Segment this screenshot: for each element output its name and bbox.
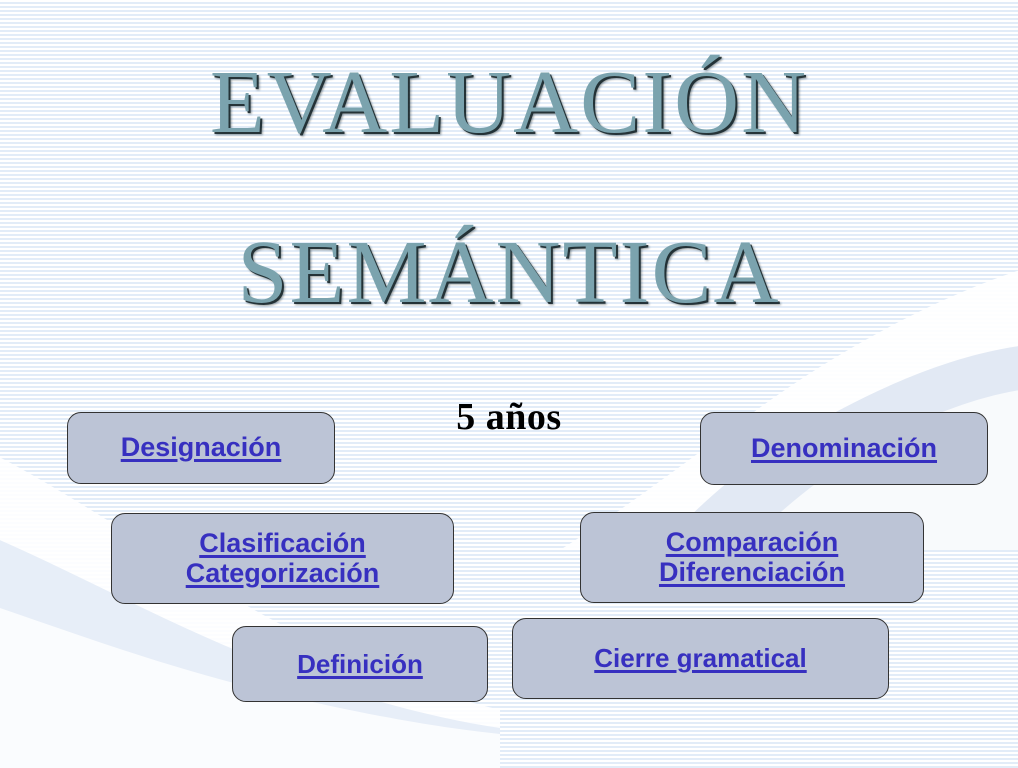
node-definicion-label: Definición — [297, 650, 423, 678]
slide-title-line-1: EVALUACIÓN — [0, 58, 1018, 148]
node-clasificacion-categorizacion[interactable]: Clasificación Categorización — [111, 513, 454, 604]
node-designacion[interactable]: Designación — [67, 412, 335, 484]
node-denominacion-label: Denominación — [751, 434, 937, 463]
node-comparacion-label-line-2: Diferenciación — [659, 558, 845, 587]
node-denominacion[interactable]: Denominación — [700, 412, 988, 485]
node-definicion[interactable]: Definición — [232, 626, 488, 702]
slide-canvas: EVALUACIÓN SEMÁNTICA 5 años Designación … — [0, 0, 1018, 768]
node-cierre-gramatical-label: Cierre gramatical — [594, 644, 806, 672]
node-designacion-label: Designación — [121, 433, 282, 462]
node-comparacion-label-line-1: Comparación — [666, 528, 839, 557]
slide-title-line-2: SEMÁNTICA — [0, 228, 1018, 318]
node-clasificacion-label-line-1: Clasificación — [199, 529, 366, 558]
node-cierre-gramatical[interactable]: Cierre gramatical — [512, 618, 889, 699]
node-comparacion-diferenciacion[interactable]: Comparación Diferenciación — [580, 512, 924, 603]
node-clasificacion-label-line-2: Categorización — [186, 559, 380, 588]
